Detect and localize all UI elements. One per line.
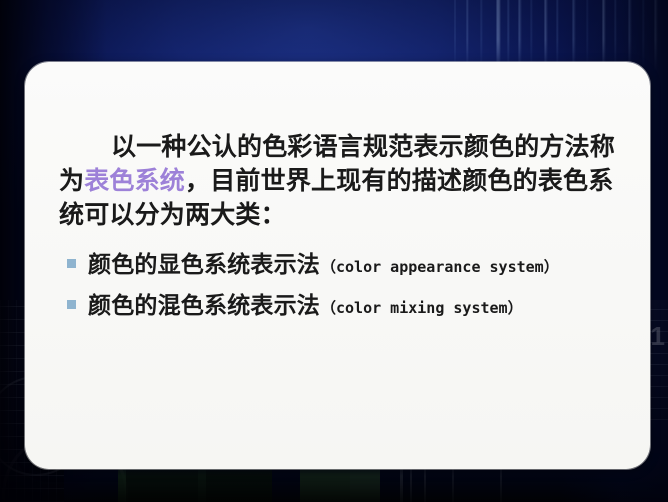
bullet-label-english: （color appearance system） <box>321 252 559 282</box>
presentation-slide: 01 以一种公认的色彩语言规范表示颜色的方法称为表色系统，目前世界上现有的描述颜… <box>0 0 668 502</box>
list-item: 颜色的显色系统表示法 （color appearance system） <box>59 250 626 282</box>
bullet-label-chinese: 颜色的显色系统表示法 <box>88 250 320 280</box>
bullet-label-english: （color mixing system） <box>321 293 523 323</box>
bullet-list: 颜色的显色系统表示法 （color appearance system） 颜色的… <box>59 250 626 323</box>
bullet-label-chinese: 颜色的混色系统表示法 <box>88 291 320 321</box>
content-card: 以一种公认的色彩语言规范表示颜色的方法称为表色系统，目前世界上现有的描述颜色的表… <box>25 62 650 469</box>
card-body: 以一种公认的色彩语言规范表示颜色的方法称为表色系统，目前世界上现有的描述颜色的表… <box>59 130 626 332</box>
square-bullet-icon <box>67 300 76 309</box>
paragraph-highlight-term: 表色系统 <box>84 166 185 195</box>
intro-paragraph: 以一种公认的色彩语言规范表示颜色的方法称为表色系统，目前世界上现有的描述颜色的表… <box>59 130 626 232</box>
list-item: 颜色的混色系统表示法 （color mixing system） <box>59 291 626 323</box>
square-bullet-icon <box>67 259 76 268</box>
